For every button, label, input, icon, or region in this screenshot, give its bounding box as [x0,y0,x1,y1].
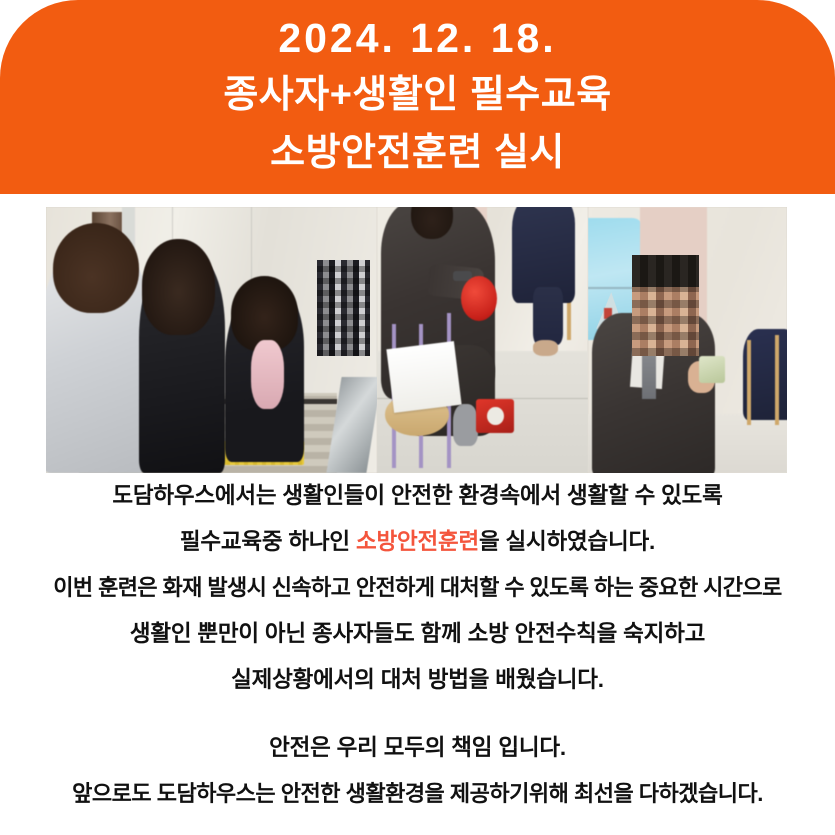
paragraph-spacer [0,703,835,725]
handheld-device [699,356,725,383]
collage-photo-seated-instructor [588,207,787,473]
privacy-mosaic-icon [317,260,370,356]
red-training-prop-hole [487,407,504,426]
body-text-block: 도담하우스에서는 생활인들이 안전한 환경속에서 생활할 수 있도록 필수교육중… [0,473,835,817]
handout-paper [386,341,461,413]
chair-leg [775,335,779,425]
body-line-1: 도담하우스에서는 생활인들이 안전한 환경속에서 생활할 수 있도록 [0,473,835,519]
instructor-sock [453,404,478,447]
body-line-2: 필수교육중 하나인 소방안전훈련을 실시하였습니다. [0,519,835,565]
seated-participant-shoe [533,340,558,356]
body-line-3: 이번 훈련은 화재 발생시 신속하고 안전하게 대처할 수 있도록 하는 중요한… [0,565,835,611]
person-child-figure [251,340,284,409]
body-line-5: 실제상황에서의 대처 방법을 배웠습니다. [0,657,835,703]
photo-collage [46,207,787,473]
poster-root: 2024. 12. 18. 종사자+생활인 필수교육 소방안전훈련 실시 [0,0,835,835]
body-line-7: 앞으로도 도담하우스는 안전한 생활환경을 제공하기위해 최선을 다하겠습니다. [0,771,835,817]
poster-header: 2024. 12. 18. 종사자+생활인 필수교육 소방안전훈련 실시 [0,0,835,194]
body-line-2-suffix: 을 실시하였습니다. [479,529,655,554]
collage-photo-extinguisher-demo [377,207,588,473]
body-line-2-highlight: 소방안전훈련 [356,529,479,554]
header-date-line: 2024. 12. 18. [0,10,835,66]
seated-man-hair [632,255,700,287]
header-title-line-3: 소방안전훈련 실시 [0,124,835,182]
header-title-line-2: 종사자+생활인 필수교육 [0,66,835,124]
body-line-4: 생활인 뿐만이 아닌 종사자들도 함께 소방 안전수칙을 숙지하고 [0,611,835,657]
body-line-2-prefix: 필수교육중 하나인 [180,529,356,554]
body-line-6: 안전은 우리 모두의 책임 입니다. [0,725,835,771]
person-adult-hair [142,239,215,335]
person-child-hair [53,223,139,313]
chair-leg [747,340,751,425]
seated-participant-leg [533,287,563,346]
collage-photo-stairwell-evacuation [46,207,377,473]
